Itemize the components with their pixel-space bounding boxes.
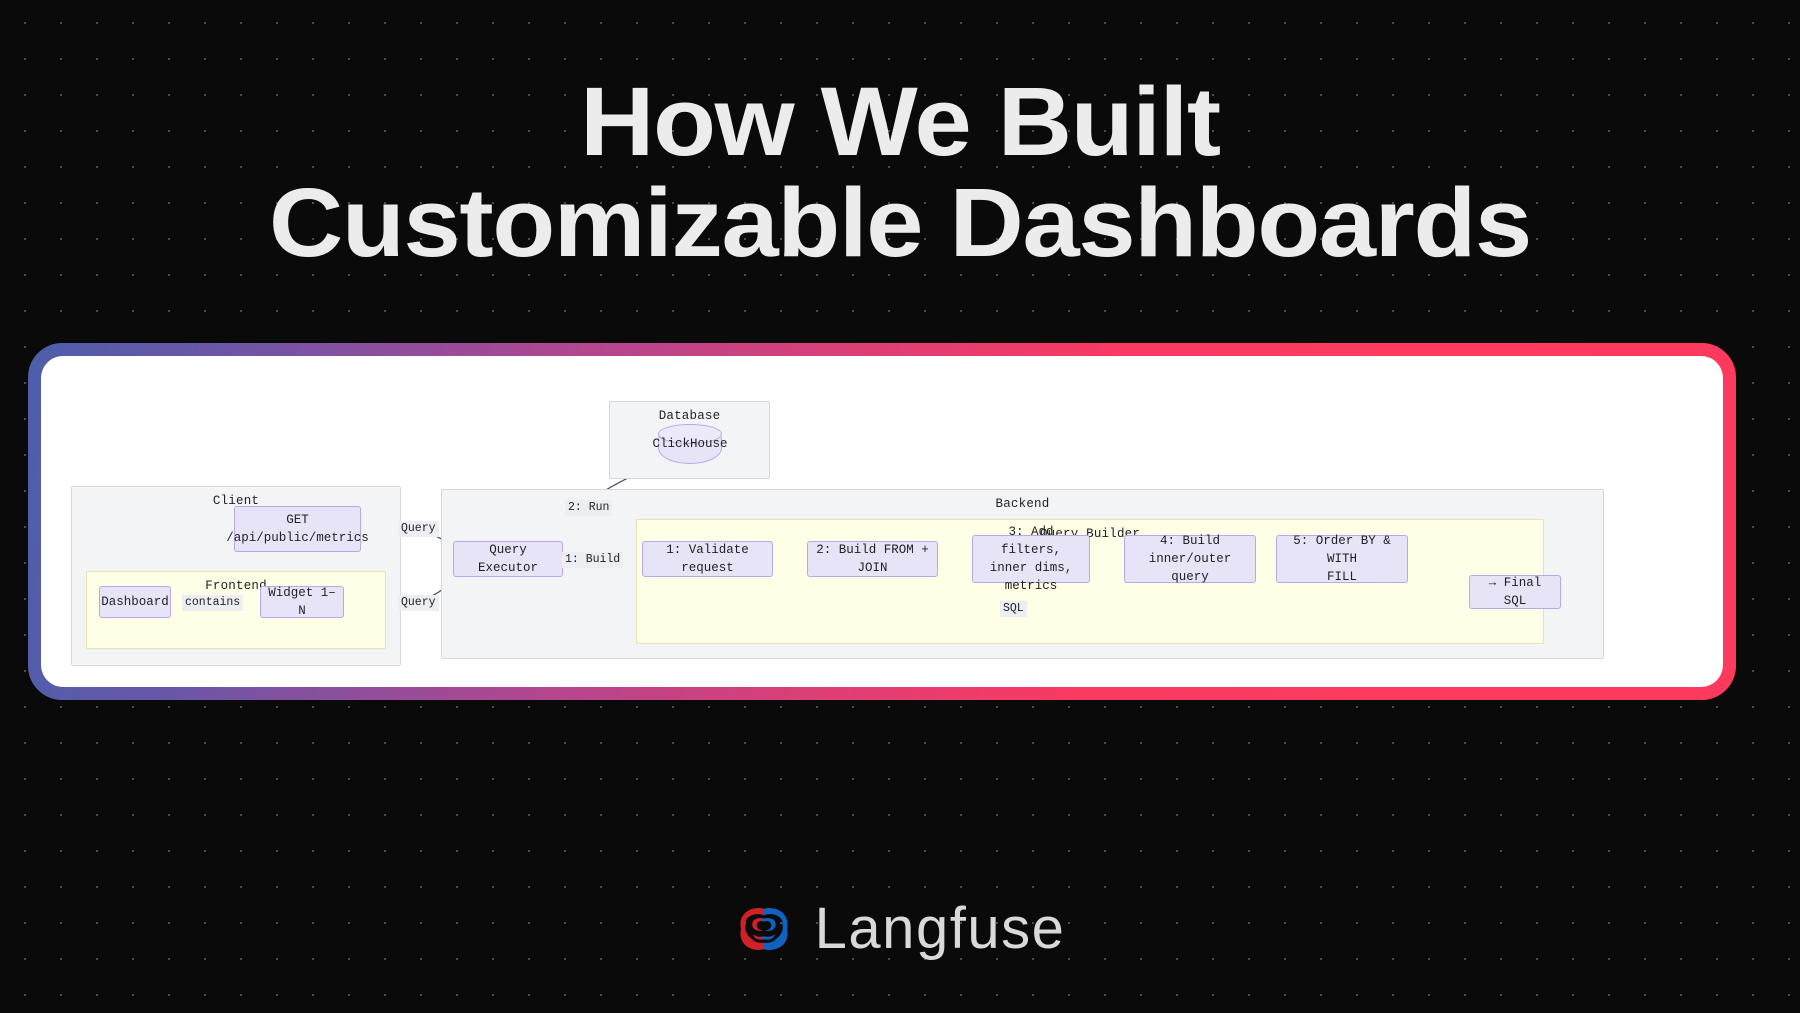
subgraph-backend-title: Backend: [442, 497, 1603, 511]
node-step-5-order-by-fill[interactable]: 5: Order BY & WITH FILL: [1276, 535, 1408, 583]
node-step-3-line1: 3: Add filters,: [979, 523, 1083, 559]
node-widget-label: Widget 1–N: [267, 584, 337, 620]
node-clickhouse-label: ClickHouse: [653, 437, 728, 451]
node-query-executor[interactable]: Query Executor: [453, 541, 563, 577]
title-line-2: Customizable Dashboards: [0, 173, 1800, 274]
node-step-4-line2: inner/outer query: [1131, 550, 1249, 586]
diagram-card-surface: Client Frontend GET /api/public/metrics …: [41, 356, 1723, 687]
edge-label-build: 1: Build: [562, 552, 623, 568]
edge-label-query-top: Query: [398, 521, 439, 537]
node-clickhouse[interactable]: ClickHouse: [658, 424, 722, 464]
node-get-metrics-line1: GET: [286, 511, 309, 529]
subgraph-database-title: Database: [610, 409, 769, 423]
node-dashboard-label: Dashboard: [101, 593, 169, 611]
node-final-sql-label: → Final SQL: [1476, 574, 1554, 610]
title-line-1: How We Built: [0, 72, 1800, 173]
node-get-metrics[interactable]: GET /api/public/metrics: [234, 506, 361, 552]
page-title: How We Built Customizable Dashboards: [0, 72, 1800, 274]
node-query-executor-label: Query Executor: [460, 541, 556, 577]
langfuse-logo-icon: [735, 903, 793, 955]
brand-wordmark: Langfuse: [815, 900, 1066, 958]
poster-canvas: How We Built Customizable Dashboards: [0, 0, 1800, 1013]
node-step-3-add-filters[interactable]: 3: Add filters, inner dims, metrics: [972, 535, 1090, 583]
node-step-2-build-from-join[interactable]: 2: Build FROM + JOIN: [807, 541, 938, 577]
node-get-metrics-line2: /api/public/metrics: [226, 529, 369, 547]
node-step-2-label: 2: Build FROM + JOIN: [814, 541, 931, 577]
footer-brand: Langfuse: [0, 900, 1800, 958]
node-step-5-line1: 5: Order BY & WITH: [1283, 532, 1401, 568]
node-widget[interactable]: Widget 1–N: [260, 586, 344, 618]
node-step-1-validate[interactable]: 1: Validate request: [642, 541, 773, 577]
edge-label-contains: contains: [182, 595, 243, 611]
node-final-sql[interactable]: → Final SQL: [1469, 575, 1561, 609]
edge-label-run: 2: Run: [565, 500, 612, 516]
node-step-3-line2: inner dims, metrics: [979, 559, 1083, 595]
node-step-4-line1: 4: Build: [1160, 532, 1220, 550]
node-step-1-label: 1: Validate request: [649, 541, 766, 577]
node-step-5-line2: FILL: [1327, 568, 1357, 586]
edge-label-query-bottom: Query: [398, 595, 439, 611]
node-dashboard[interactable]: Dashboard: [99, 586, 171, 618]
architecture-diagram: Client Frontend GET /api/public/metrics …: [41, 356, 1723, 687]
diagram-card-frame: Client Frontend GET /api/public/metrics …: [28, 343, 1736, 700]
edge-label-sql: SQL: [1000, 601, 1027, 617]
node-step-4-build-query[interactable]: 4: Build inner/outer query: [1124, 535, 1256, 583]
